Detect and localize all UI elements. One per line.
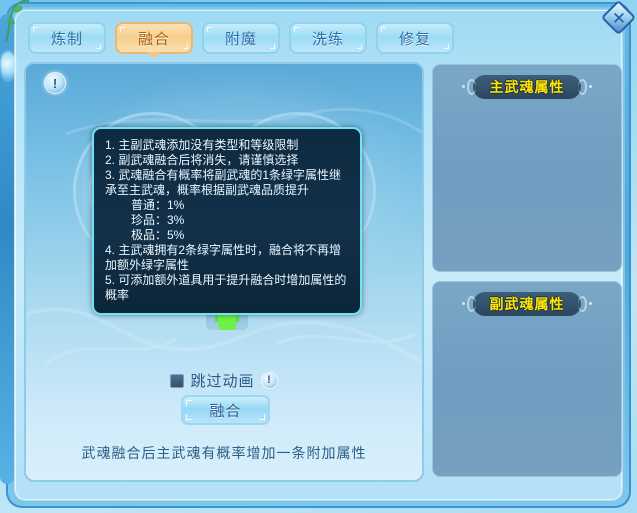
main-soul-attributes-panel: 主武魂属性 xyxy=(432,64,622,272)
tab-label: 融合 xyxy=(138,28,170,49)
tooltip-line: 普通：1% xyxy=(105,198,349,213)
fusion-hint-text: 武魂融合后主武魂有概率增加一条附加属性 xyxy=(26,443,422,463)
tooltip-line: 极品：5% xyxy=(105,228,349,243)
tab-corner-icon xyxy=(183,44,188,49)
tab-corner-icon xyxy=(444,44,449,49)
tab-corner-icon xyxy=(120,27,125,32)
sub-soul-attributes-banner: 副武魂属性 xyxy=(461,292,593,316)
banner-wing-icon xyxy=(467,296,476,312)
tab-corner-icon xyxy=(294,27,299,32)
tooltip-line: 4. 主武魂拥有2条绿字属性时，融合将不再增加额外绿字属性 xyxy=(105,243,349,273)
banner-wing-icon xyxy=(578,79,587,95)
skip-animation-checkbox[interactable] xyxy=(170,374,184,388)
sub-soul-attributes-panel: 副武魂属性 xyxy=(432,281,622,477)
tooltip-line: 2. 副武魂融合后将消失，请谨慎选择 xyxy=(105,153,349,168)
rules-tooltip: 1. 主副武魂添加没有类型和等级限制 2. 副武魂融合后将消失，请谨慎选择 3.… xyxy=(92,127,362,315)
tab-corner-icon xyxy=(96,44,101,49)
tab-corner-icon xyxy=(207,27,212,32)
tab-repair[interactable]: 修复 xyxy=(376,22,454,54)
button-corner-icon xyxy=(186,414,192,420)
button-corner-icon xyxy=(259,414,265,420)
banner-dot-icon xyxy=(462,302,465,305)
tab-corner-icon xyxy=(33,27,38,32)
main-soul-attributes-title: 主武魂属性 xyxy=(490,77,565,97)
vine-decoration-icon xyxy=(4,0,30,44)
tab-label: 洗练 xyxy=(312,28,344,49)
tab-refine[interactable]: 炼制 xyxy=(28,22,106,54)
tooltip-line: 珍品：3% xyxy=(105,213,349,228)
main-soul-attributes-banner: 主武魂属性 xyxy=(461,75,593,99)
close-icon: ✕ xyxy=(602,1,636,35)
close-button[interactable]: ✕ xyxy=(602,1,636,35)
fuse-button-label: 融合 xyxy=(209,400,241,421)
tab-corner-icon xyxy=(270,44,275,49)
skip-animation-info-icon[interactable]: ! xyxy=(261,372,278,389)
tab-enchant[interactable]: 附魔 xyxy=(202,22,280,54)
tab-wash[interactable]: 洗练 xyxy=(289,22,367,54)
skip-animation-label: 跳过动画 xyxy=(190,370,254,391)
skip-animation-row: 跳过动画 ! xyxy=(26,370,422,391)
tab-label: 修复 xyxy=(399,28,431,49)
tab-bar: 炼制 融合 附魔 洗练 修复 xyxy=(28,22,454,54)
tooltip-line: 1. 主副武魂添加没有类型和等级限制 xyxy=(105,138,349,153)
tooltip-line: 5. 可添加额外道具用于提升融合时增加属性的概率 xyxy=(105,273,349,303)
sub-soul-attributes-title: 副武魂属性 xyxy=(490,294,565,314)
banner-dot-icon xyxy=(462,85,465,88)
info-icon[interactable]: ! xyxy=(44,72,66,94)
tab-fusion[interactable]: 融合 xyxy=(115,22,193,54)
tab-label: 炼制 xyxy=(51,28,83,49)
tooltip-line: 3. 武魂融合有概率将副武魂的1条绿字属性继承至主武魂，概率根据副武魂品质提升 xyxy=(105,168,349,198)
left-edge-ornament xyxy=(0,14,14,484)
tab-label: 附魔 xyxy=(225,28,257,49)
banner-wing-icon xyxy=(467,79,476,95)
fuse-button[interactable]: 融合 xyxy=(181,395,270,425)
game-window: ✕ 炼制 融合 附魔 洗练 修复 xyxy=(0,0,637,513)
banner-dot-icon xyxy=(589,302,592,305)
banner-wing-icon xyxy=(578,296,587,312)
tab-corner-icon xyxy=(357,44,362,49)
button-corner-icon xyxy=(186,400,192,406)
banner-dot-icon xyxy=(589,85,592,88)
tab-corner-icon xyxy=(381,27,386,32)
